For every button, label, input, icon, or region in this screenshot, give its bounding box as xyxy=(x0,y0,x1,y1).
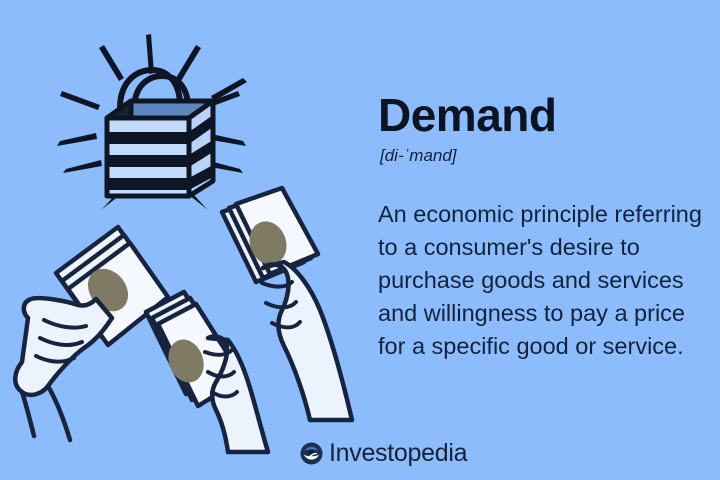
logo-wordmark: Investopedia xyxy=(329,441,467,466)
investopedia-circle-mark xyxy=(300,442,323,465)
shopping-bag-icon xyxy=(107,70,213,196)
illustration xyxy=(0,0,360,480)
ray-icon xyxy=(63,160,102,173)
text-column: Demand [di-ˈmand] An economic principle … xyxy=(378,0,708,480)
hand-with-cash-center xyxy=(146,292,268,452)
ray-icon xyxy=(57,133,97,146)
ray-icon xyxy=(60,91,100,110)
ray-icon xyxy=(99,45,124,81)
illustration-svg xyxy=(0,0,360,480)
definition-text: An economic principle referring to a con… xyxy=(378,198,704,363)
investopedia-logo: Investopedia xyxy=(300,441,467,466)
page-title: Demand xyxy=(378,92,556,138)
hand-with-cash-left xyxy=(15,227,168,440)
ray-icon xyxy=(176,45,201,81)
pronunciation: [di-ˈmand] xyxy=(380,146,457,166)
definition-card: Demand [di-ˈmand] An economic principle … xyxy=(0,0,720,480)
